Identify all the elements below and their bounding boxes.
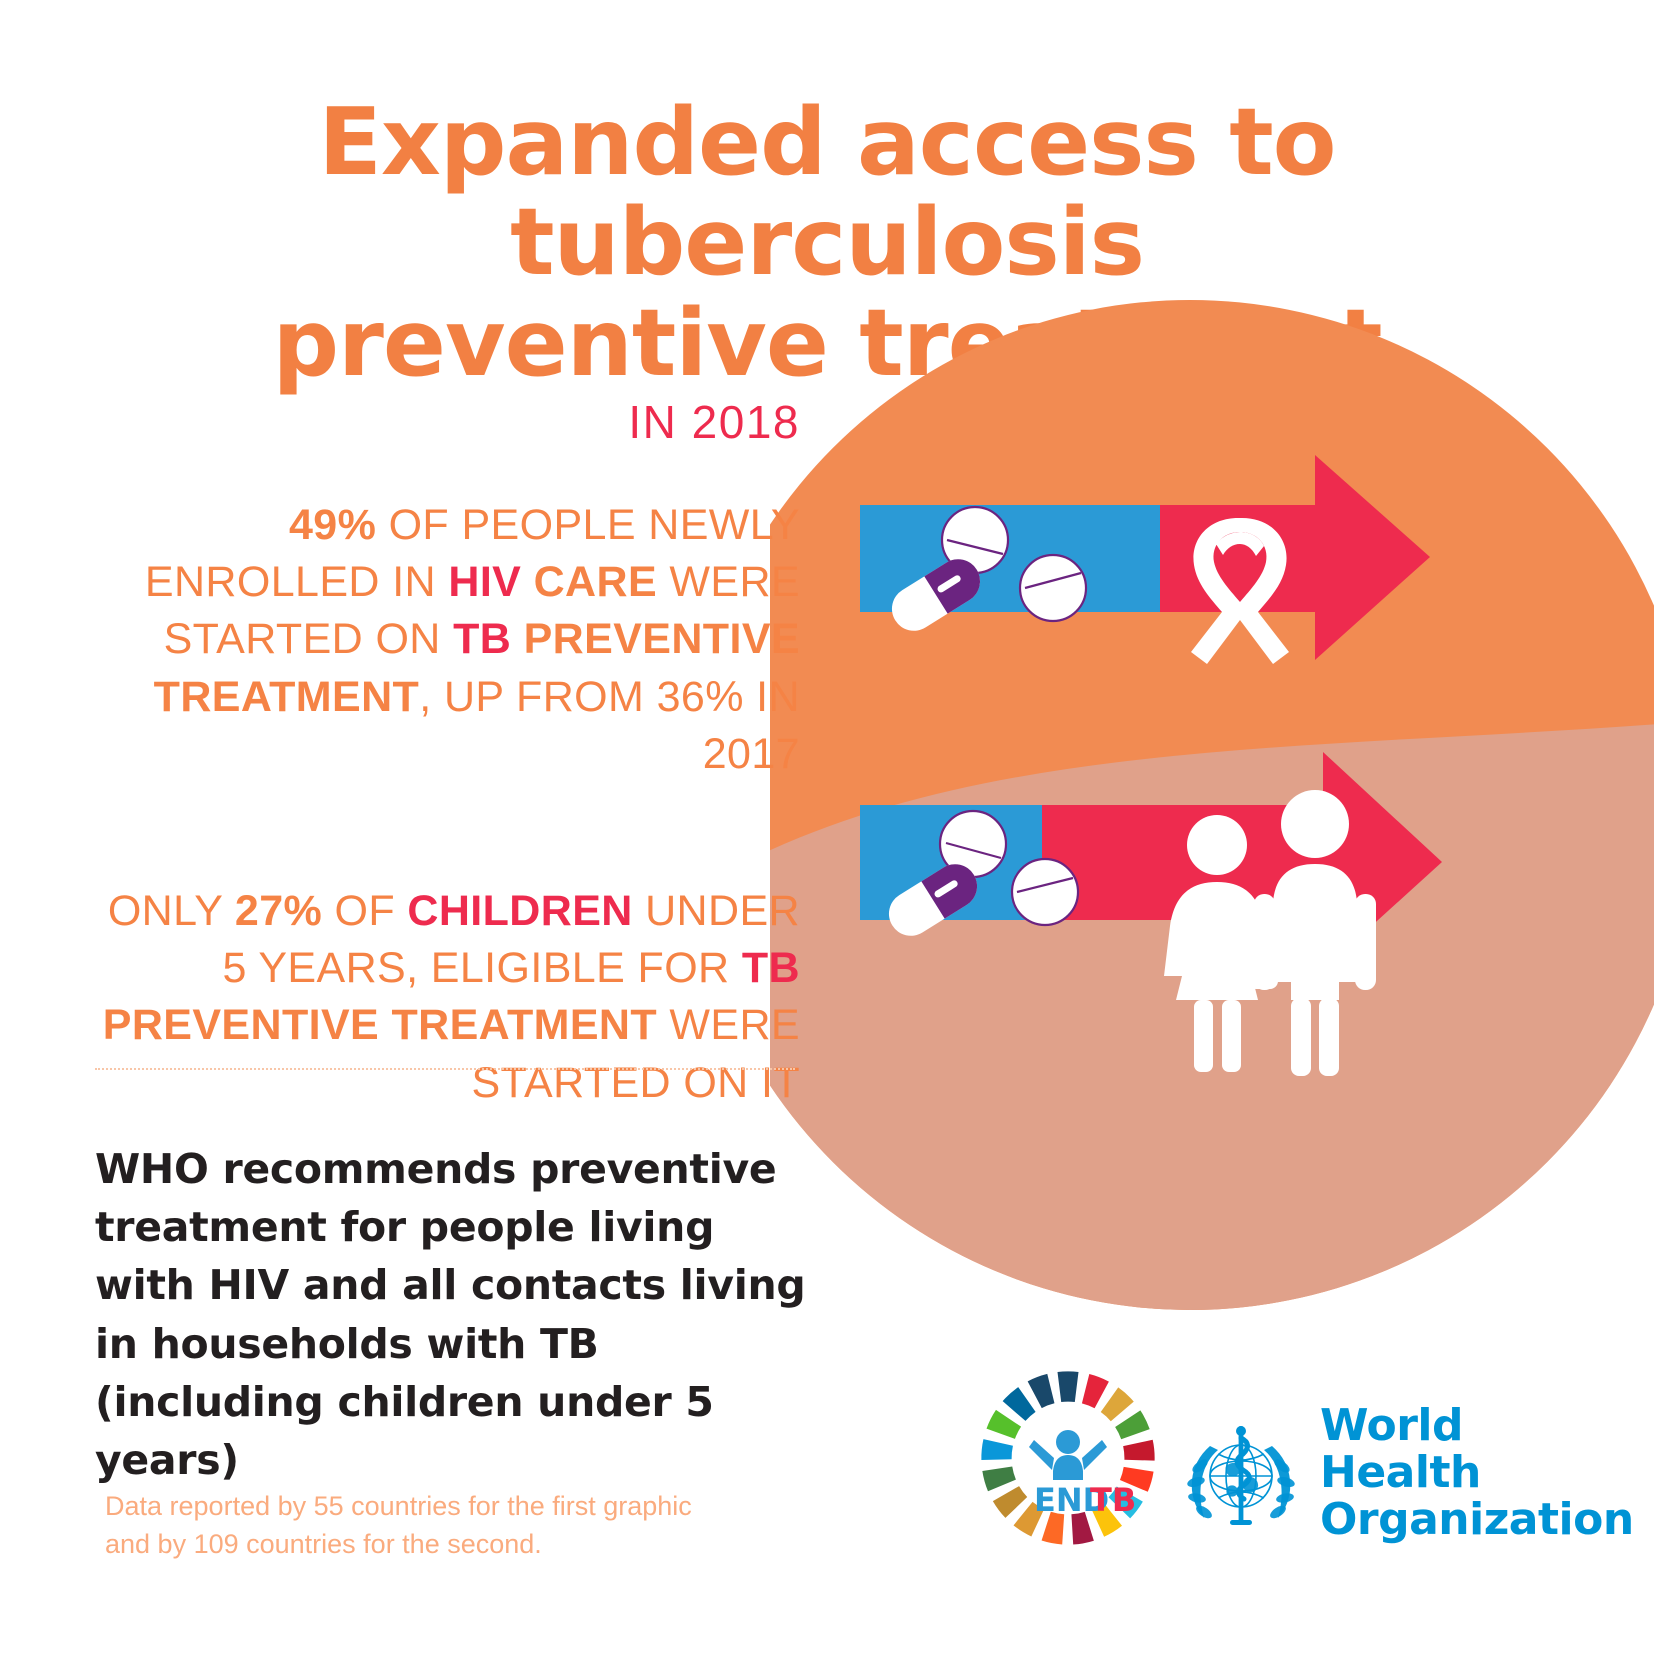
stat2-percent: 27% <box>235 887 322 935</box>
stat1-percent: 49% <box>289 501 376 549</box>
stat1-tb: TB <box>453 615 511 663</box>
footnote-line-1: Data reported by 55 countries for the fi… <box>105 1487 805 1525</box>
stat1-comma: , <box>419 673 431 721</box>
stat1-care: CARE <box>521 558 657 606</box>
who-text-line-2: Organization <box>1320 1496 1634 1543</box>
pill-tablet-4 <box>1012 859 1078 925</box>
dotted-divider <box>95 1068 795 1072</box>
stat1-hiv: HIV <box>448 558 521 606</box>
year-label: IN 2018 <box>80 395 800 449</box>
stat2-children: CHILDREN <box>407 887 632 935</box>
infographic-canvas: Expanded access to tuberculosis preventi… <box>0 0 1654 1654</box>
stat2-tb: TB <box>742 944 800 992</box>
stat2-of: OF <box>322 887 407 935</box>
who-recommendation-text: WHO recommends preventive treatment for … <box>95 1140 825 1489</box>
stat2-only: ONLY <box>108 887 235 935</box>
stat-children: ONLY 27% OF CHILDREN UNDER 5 YEARS, ELIG… <box>80 883 800 1112</box>
who-emblem-icon <box>1180 1412 1302 1534</box>
who-text-line-1: World Health <box>1320 1402 1634 1496</box>
stats-column: IN 2018 49% OF PEOPLE NEWLY ENROLLED IN … <box>80 395 800 1112</box>
end-tb-person-icon <box>1029 1430 1107 1480</box>
who-logo: World Health Organization <box>1180 1400 1600 1545</box>
stat-hiv-care: 49% OF PEOPLE NEWLY ENROLLED IN HIV CARE… <box>80 497 800 783</box>
data-source-footnote: Data reported by 55 countries for the fi… <box>105 1487 805 1564</box>
stat2-preventive-treatment: PREVENTIVE TREATMENT <box>103 1001 657 1049</box>
end-tb-logo: END TB <box>978 1368 1158 1548</box>
who-logo-text: World Health Organization <box>1320 1402 1634 1543</box>
title-line-1: Expanded access to tuberculosis <box>318 88 1335 296</box>
pill-tablet-2 <box>1020 555 1086 621</box>
footnote-line-2: and by 109 countries for the second. <box>105 1525 805 1563</box>
end-tb-label-tb: TB <box>1090 1481 1136 1519</box>
artwork-illustration <box>770 300 1654 1310</box>
stat1-text-3: UP FROM 36% IN 2017 <box>432 673 800 778</box>
